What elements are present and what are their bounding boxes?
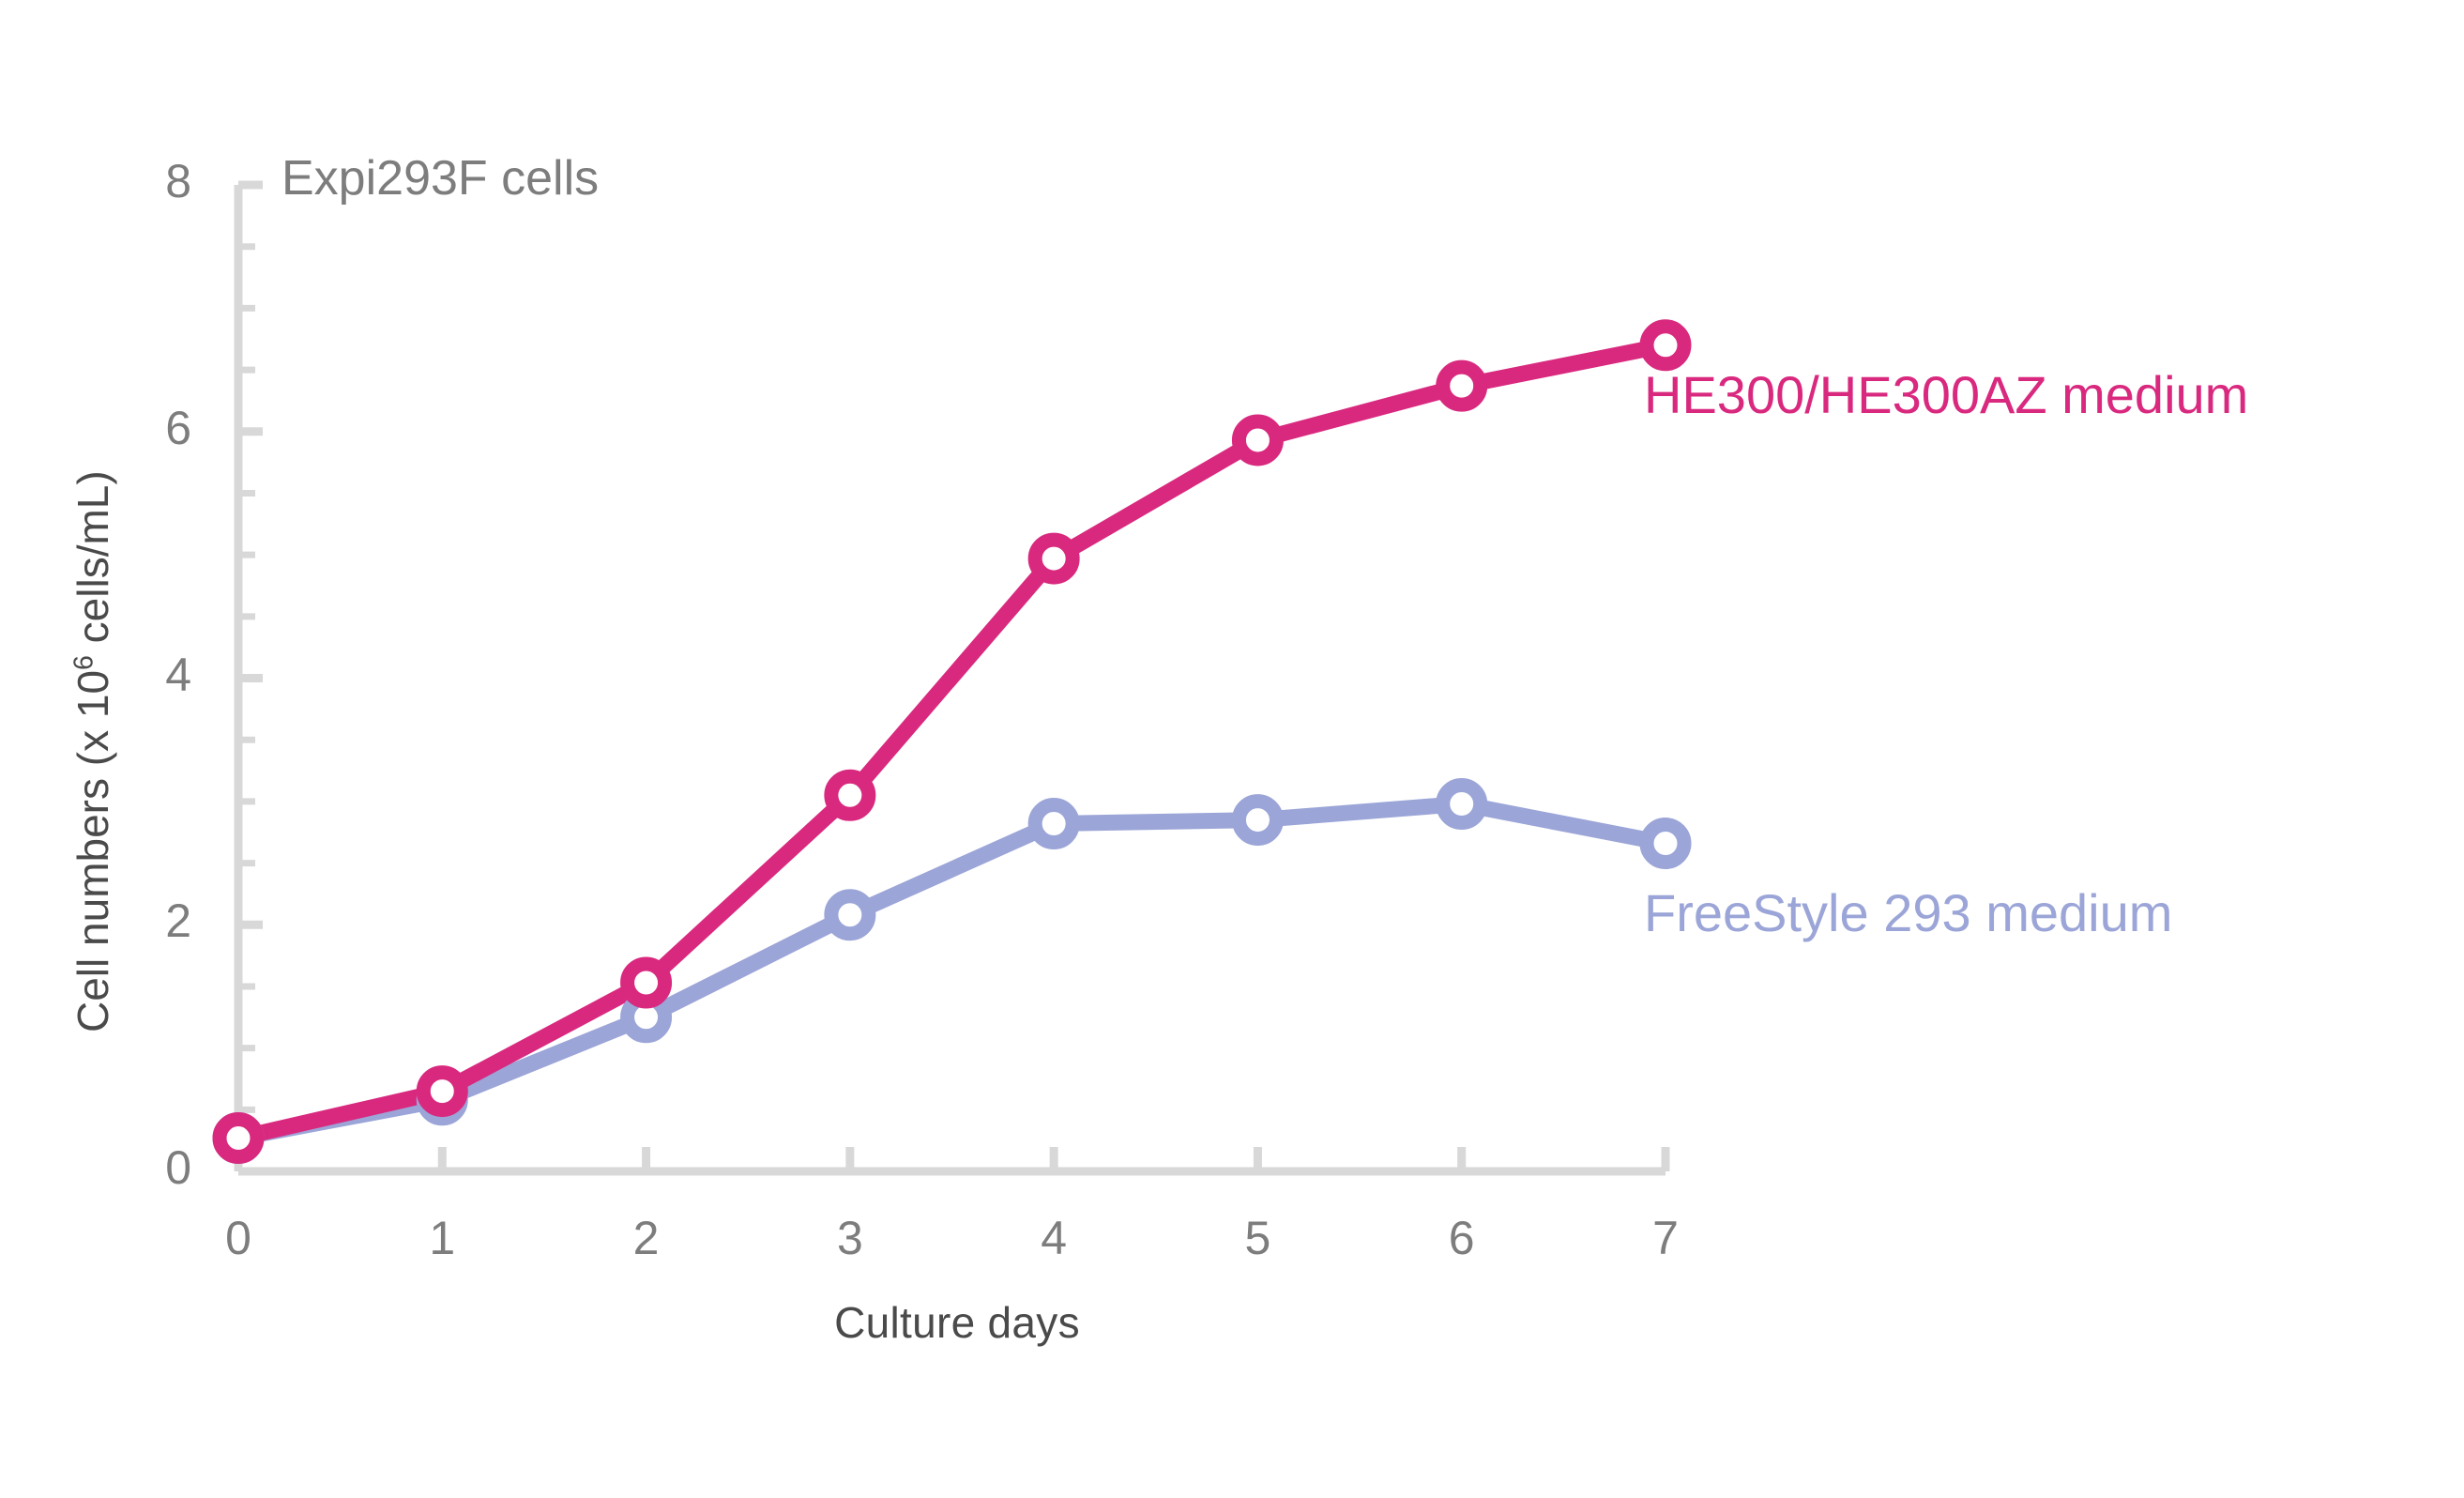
y-axis-tick-label: 6 [116, 401, 191, 455]
x-axis-tick-label: 2 [609, 1211, 684, 1265]
data-point-marker [831, 776, 869, 814]
data-point-marker [628, 964, 665, 1001]
x-axis-tick-label: 6 [1424, 1211, 1499, 1265]
data-point-marker [1239, 802, 1276, 839]
plot-area [0, 0, 2464, 1498]
data-point-marker [831, 896, 869, 934]
data-point-marker [1443, 786, 1481, 823]
y-axis-tick-label: 8 [116, 154, 191, 208]
y-axis-tick-label: 2 [116, 894, 191, 948]
x-axis-tick-label: 1 [404, 1211, 479, 1265]
x-axis-tick-label: 3 [813, 1211, 888, 1265]
data-point-marker [1035, 540, 1072, 577]
y-axis-tick-label: 0 [116, 1140, 191, 1195]
data-point-marker [1239, 421, 1276, 459]
x-axis-tick-label: 5 [1220, 1211, 1295, 1265]
data-point-marker [1647, 825, 1684, 863]
x-axis-tick-label: 7 [1628, 1211, 1703, 1265]
data-point-marker [1035, 805, 1072, 843]
data-point-marker [423, 1073, 461, 1110]
data-point-marker [220, 1120, 257, 1157]
y-axis-tick-label: 4 [116, 648, 191, 702]
data-point-marker [1443, 367, 1481, 405]
x-axis-tick-label: 4 [1016, 1211, 1091, 1265]
chart-figure: Cell numbers (x 106 cells/mL) Culture da… [0, 0, 2464, 1498]
data-point-marker [1647, 327, 1684, 364]
x-axis-tick-label: 0 [201, 1211, 276, 1265]
series-line-0 [238, 345, 1665, 1139]
